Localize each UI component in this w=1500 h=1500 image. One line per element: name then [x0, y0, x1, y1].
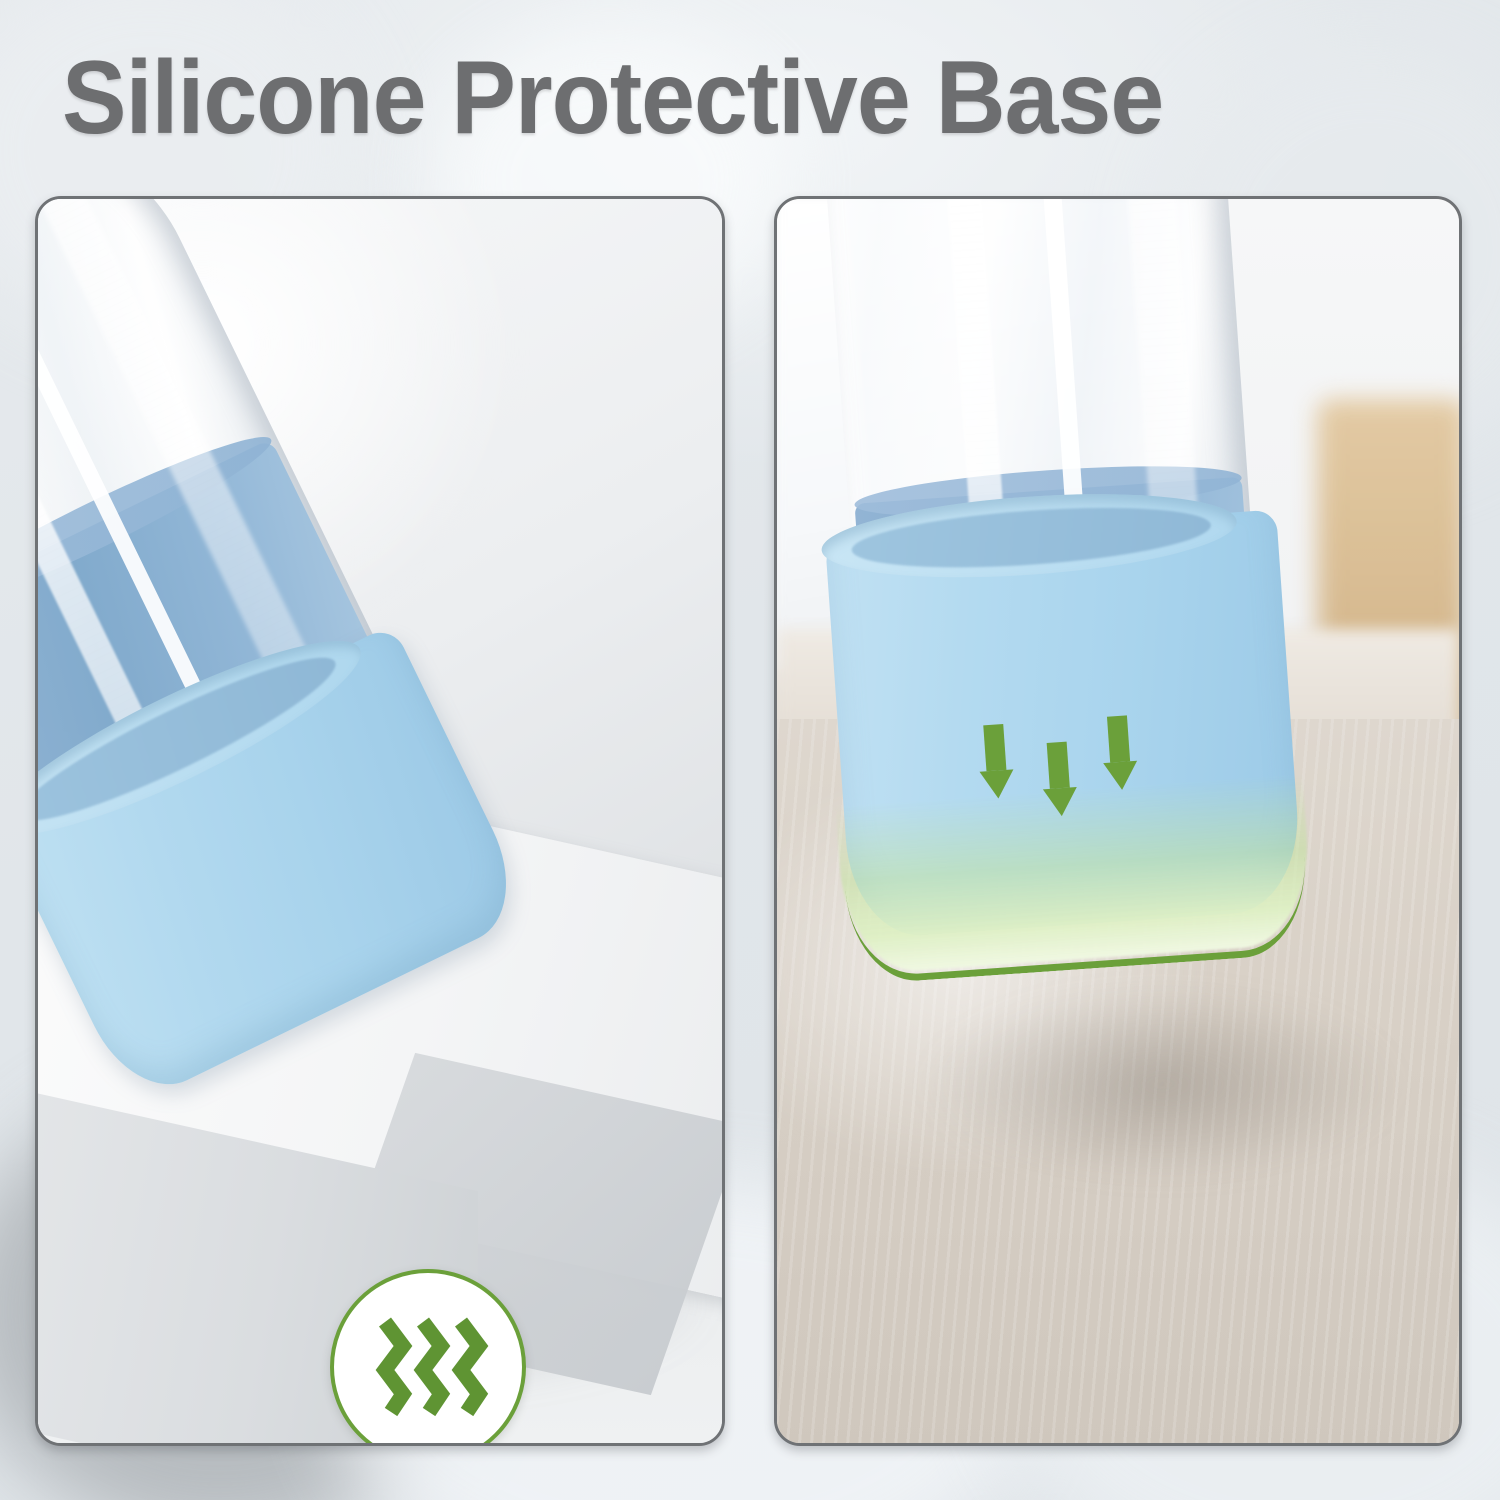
impact-force-arrows [976, 712, 1184, 846]
downward-arrow-icon [1100, 715, 1139, 791]
water-bottle-upright [816, 199, 1285, 1033]
downward-arrow-icon [1040, 741, 1079, 817]
product-photo-anti-impact [777, 199, 1459, 1443]
anti-slip-zigzag-icon [363, 1302, 493, 1432]
product-photo-anti-slip [38, 199, 722, 1443]
feature-panel-anti-impact: Anti-impact [774, 196, 1462, 1446]
downward-arrow-icon [976, 723, 1015, 799]
product-feature-graphic: Silicone Protective Base [0, 0, 1500, 1500]
page-title: Silicone Protective Base [62, 42, 1364, 154]
feature-panel-anti-slip: Anti-slip [35, 196, 725, 1446]
